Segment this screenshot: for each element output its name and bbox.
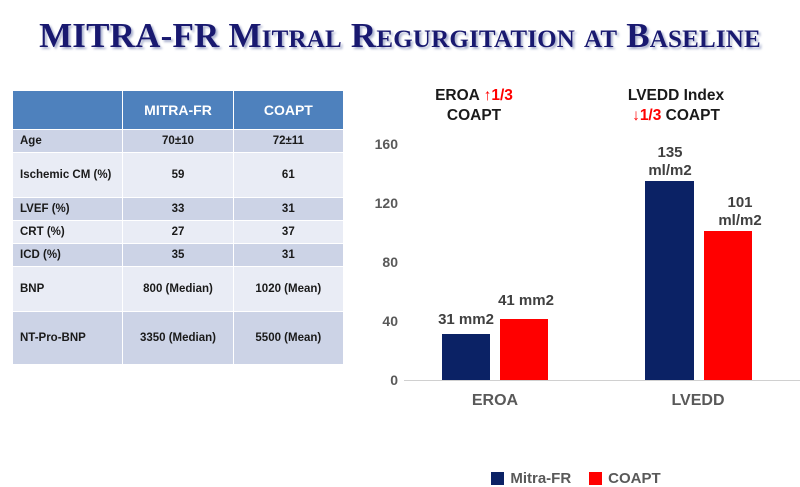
bar-eroa-mitra-fr[interactable] [442, 334, 490, 380]
bar-lvedd-mitra-fr[interactable] [645, 181, 694, 380]
table-header-row: MITRA-FR COAPT [13, 91, 344, 130]
bar-chart: EROA ↑1/3 COAPT LVEDD Index ↓1/3 COAPT 0… [352, 86, 800, 450]
cell-coapt: 31 [233, 198, 343, 221]
table-row: Age 70±10 72±11 [13, 130, 344, 153]
table-row: Ischemic CM (%) 59 61 [13, 153, 344, 198]
chart-legend: Mitra-FR COAPT [352, 470, 800, 487]
cell-mitra-fr: 70±10 [123, 130, 233, 153]
bar-label-lvedd-mitra-fr-value: 135 [657, 144, 682, 161]
annotation-lvedd-highlight: ↓1/3 [632, 107, 661, 124]
y-tick-160: 160 [362, 136, 398, 152]
page-title: MITRA-FR Mitral Regurgitation at Baselin… [0, 14, 800, 58]
annotation-lvedd: LVEDD Index ↓1/3 COAPT [596, 86, 756, 126]
table-header-corner [13, 91, 123, 130]
legend-item-mitra-fr[interactable]: Mitra-FR [491, 470, 571, 487]
plot-region: 0 40 80 120 160 31 mm2 41 mm2 135 ml/m2 … [352, 144, 800, 380]
table-row: BNP 800 (Median) 1020 (Mean) [13, 267, 344, 312]
x-axis-line [404, 380, 800, 381]
baseline-characteristics-table: MITRA-FR COAPT Age 70±10 72±11 Ischemic … [12, 90, 344, 365]
cell-coapt: 72±11 [233, 130, 343, 153]
row-label: LVEF (%) [13, 198, 123, 221]
row-label: ICD (%) [13, 244, 123, 267]
row-label: BNP [13, 267, 123, 312]
cell-mitra-fr: 59 [123, 153, 233, 198]
table-row: CRT (%) 27 37 [13, 221, 344, 244]
bar-label-eroa-coapt: 41 mm2 [474, 292, 578, 310]
x-category-lvedd: LVEDD [642, 392, 754, 410]
bar-label-lvedd-mitra-fr-unit: ml/m2 [648, 162, 691, 179]
legend-swatch-icon-coapt [589, 472, 602, 485]
table-row: NT-Pro-BNP 3350 (Median) 5500 (Mean) [13, 312, 344, 365]
table-row: LVEF (%) 33 31 [13, 198, 344, 221]
table-header-coapt: COAPT [233, 91, 343, 130]
bar-label-lvedd-coapt: 101 ml/m2 [688, 194, 792, 230]
table-row: ICD (%) 35 31 [13, 244, 344, 267]
table-body: Age 70±10 72±11 Ischemic CM (%) 59 61 LV… [13, 130, 344, 365]
annotation-lvedd-line1: LVEDD Index [628, 87, 724, 104]
annotation-eroa-text: EROA [435, 87, 484, 104]
row-label: NT-Pro-BNP [13, 312, 123, 365]
row-label: Age [13, 130, 123, 153]
y-tick-40: 40 [362, 313, 398, 329]
bar-label-eroa-mitra-fr: 31 mm2 [414, 311, 518, 329]
cell-mitra-fr: 3350 (Median) [123, 312, 233, 365]
legend-swatch-icon-mitra-fr [491, 472, 504, 485]
table-header-mitra-fr: MITRA-FR [123, 91, 233, 130]
row-label: CRT (%) [13, 221, 123, 244]
cell-coapt: 37 [233, 221, 343, 244]
bar-lvedd-coapt[interactable] [704, 231, 752, 380]
y-tick-80: 80 [362, 254, 398, 270]
cell-mitra-fr: 800 (Median) [123, 267, 233, 312]
cell-coapt: 31 [233, 244, 343, 267]
bar-label-lvedd-coapt-unit: ml/m2 [718, 212, 761, 229]
cell-coapt: 1020 (Mean) [233, 267, 343, 312]
bar-label-lvedd-coapt-value: 101 [727, 194, 752, 211]
cell-mitra-fr: 27 [123, 221, 233, 244]
bar-label-lvedd-mitra-fr: 135 ml/m2 [618, 144, 722, 180]
table-header: MITRA-FR COAPT [13, 91, 344, 130]
annotation-eroa: EROA ↑1/3 COAPT [394, 86, 554, 126]
y-tick-120: 120 [362, 195, 398, 211]
cell-coapt: 5500 (Mean) [233, 312, 343, 365]
annotation-lvedd-line2: COAPT [661, 107, 720, 124]
y-tick-0: 0 [362, 372, 398, 388]
legend-item-coapt[interactable]: COAPT [589, 470, 661, 487]
cell-mitra-fr: 33 [123, 198, 233, 221]
row-label: Ischemic CM (%) [13, 153, 123, 198]
x-category-eroa: EROA [439, 392, 551, 410]
cell-coapt: 61 [233, 153, 343, 198]
annotation-eroa-line2: COAPT [447, 107, 501, 124]
legend-label-coapt: COAPT [608, 470, 661, 487]
cell-mitra-fr: 35 [123, 244, 233, 267]
annotation-eroa-highlight: ↑1/3 [484, 87, 513, 104]
y-axis: 0 40 80 120 160 [352, 144, 398, 380]
legend-label-mitra-fr: Mitra-FR [510, 470, 571, 487]
